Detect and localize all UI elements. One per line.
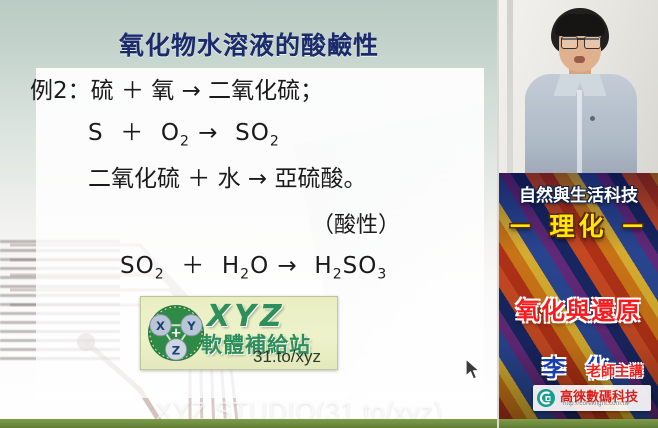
- equation-line-1: 例2：硫 ＋ 氧 → 二氧化硫；: [30, 80, 323, 103]
- company-brand-bar[interactable]: 高徠數碼科技 http://coreklight.com.tw: [533, 385, 651, 411]
- teacher-shirt-button: [590, 116, 595, 121]
- eq5-c-tail: SO: [343, 253, 378, 279]
- eq5-reactant-a: SO: [120, 253, 155, 279]
- video-wall-edge: [507, 0, 513, 173]
- eq2-product: SO: [235, 120, 270, 146]
- svg-text:Y: Y: [186, 319, 196, 333]
- company-logo-icon: [536, 388, 556, 408]
- eq5-b-tail: O: [250, 253, 269, 279]
- course-info-panel: 自然與生活科技 － 理化 － 氧化與還原 李 化 老師主講 高徠數碼科技 htt…: [499, 173, 658, 419]
- teacher-mouth: [574, 56, 585, 63]
- eq2-reactant-b-sub: 2: [180, 134, 190, 150]
- xyz-molecule-logo-icon: + X Y Z: [147, 303, 205, 363]
- teacher-shirt-placket: [577, 90, 582, 173]
- eq5-c-sub2: 3: [377, 267, 387, 283]
- course-subject: 自然與生活科技: [499, 181, 658, 206]
- equation-line-2: S ＋ O2 → SO2: [88, 122, 280, 149]
- screen: 氧化物水溶液的酸鹼性 例2：硫 ＋ 氧 → 二氧化硫； S ＋ O2 → SO2…: [0, 0, 658, 428]
- eq2-product-sub: 2: [270, 134, 280, 150]
- course-topic: 氧化與還原: [499, 291, 658, 326]
- eq2-reactant-b: O: [161, 120, 180, 146]
- eq5-c-sub: 2: [333, 267, 343, 283]
- teacher-fringe: [555, 14, 605, 36]
- lecturer-suffix: 老師主講: [587, 361, 643, 381]
- eq2-arrow: →: [198, 120, 218, 146]
- watermark-url: 31.to/xyz: [253, 347, 321, 367]
- xyz-watermark[interactable]: + X Y Z XYZ 軟體補給站 31.to/xyz: [140, 296, 338, 370]
- svg-text:X: X: [156, 319, 165, 333]
- svg-text:Z: Z: [172, 343, 180, 357]
- bottom-green-bar: [0, 419, 498, 428]
- acidity-note: （酸性）: [312, 215, 400, 237]
- equation-line-5: SO2 ＋ H2O → H2SO3: [120, 255, 387, 282]
- company-url: http://coreklight.com.tw: [563, 401, 629, 407]
- eq5-b-sub: 2: [240, 267, 250, 283]
- teacher-glasses-right: [584, 36, 601, 49]
- sidebar-bottom-bar: [499, 419, 658, 428]
- mouse-pointer-icon: [464, 358, 482, 382]
- eq5-reactant-b: H: [222, 253, 240, 279]
- slide-area: 氧化物水溶液的酸鹼性 例2：硫 ＋ 氧 → 二氧化硫； S ＋ O2 → SO2…: [0, 0, 498, 428]
- teacher-video-feed[interactable]: [499, 0, 658, 173]
- eq5-product: H: [314, 253, 332, 279]
- eq2-plus: ＋: [120, 120, 144, 146]
- slide-title: 氧化物水溶液的酸鹼性: [0, 26, 498, 62]
- eq5-arrow: →: [278, 253, 298, 279]
- teacher-glasses-left: [561, 36, 578, 49]
- sidebar: 自然與生活科技 － 理化 － 氧化與還原 李 化 老師主講 高徠數碼科技 htt…: [497, 0, 658, 428]
- eq5-plus: ＋: [181, 253, 205, 279]
- eq5-a-sub: 2: [155, 267, 165, 283]
- course-name: － 理化 －: [499, 207, 658, 243]
- equation-line-3: 二氧化硫 ＋ 水 → 亞硫酸。: [88, 168, 367, 191]
- eq2-reactant-a: S: [88, 120, 104, 146]
